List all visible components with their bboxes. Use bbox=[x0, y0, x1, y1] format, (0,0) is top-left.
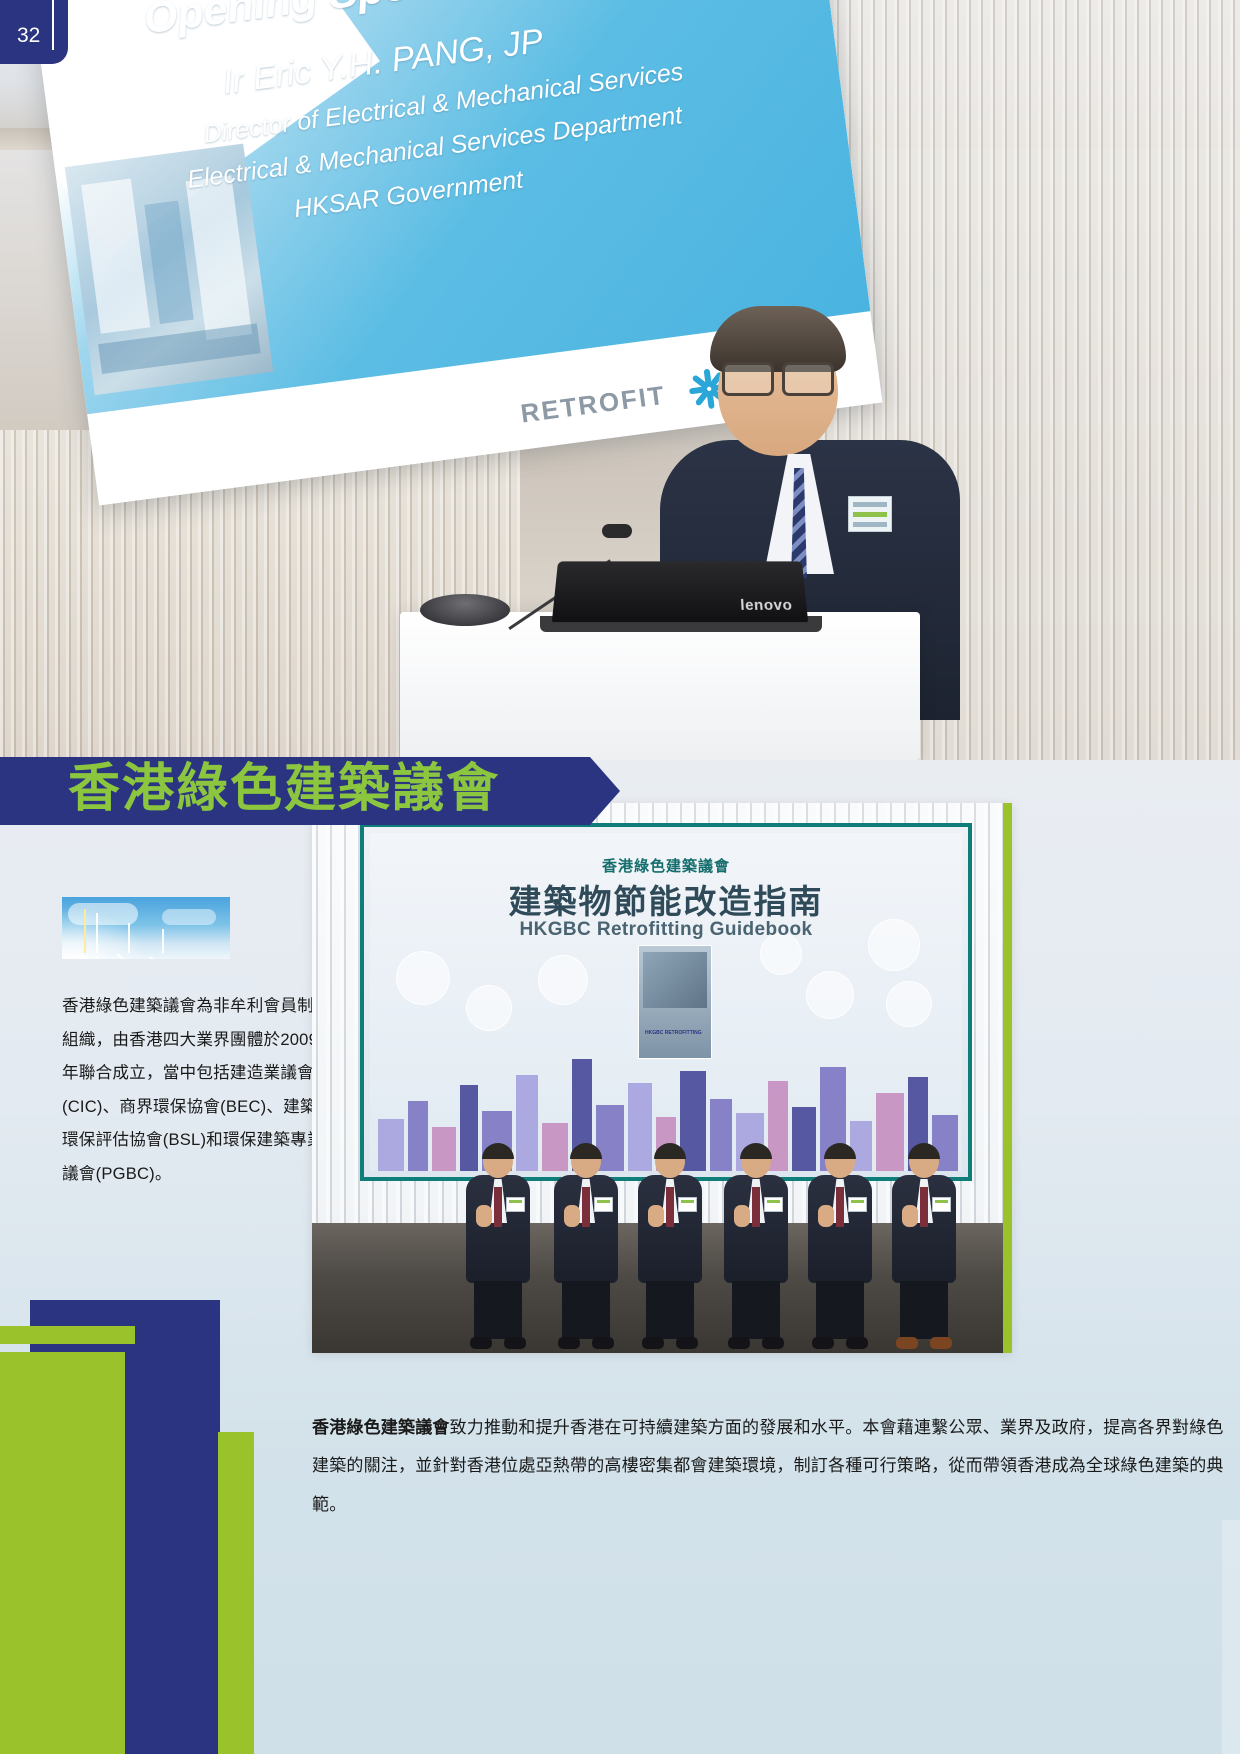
poster-org-name: 香港綠色建築議會 bbox=[370, 855, 962, 876]
decorative-bars bbox=[0, 1280, 270, 1754]
guidebook-poster: 香港綠色建築議會 建築物節能改造指南 HKGBC Retrofitting Gu… bbox=[360, 823, 972, 1181]
left-paragraph: 香港綠色建築議會為非牟利會員制組織，由香港四大業界團體於2009年聯合成立，當中… bbox=[62, 989, 324, 1190]
lectern bbox=[400, 612, 920, 760]
bottom-paragraph: 香港綠色建築議會致力推動和提升香港在可持續建築方面的發展和水平。本會藉連繫公眾、… bbox=[312, 1409, 1237, 1524]
poster-inner: 香港綠色建築議會 建築物節能改造指南 HKGBC Retrofitting Gu… bbox=[370, 833, 962, 1171]
poster-circle-icon bbox=[886, 981, 932, 1027]
poster-circle-icon bbox=[538, 955, 588, 1005]
conference-speakerphone bbox=[420, 594, 510, 626]
poster-circle-icon bbox=[396, 951, 450, 1005]
person bbox=[804, 1145, 876, 1353]
deco-green-block bbox=[0, 1352, 125, 1754]
person bbox=[634, 1145, 706, 1353]
person bbox=[888, 1145, 960, 1353]
group-photo: 香港綠色建築議會 建築物節能改造指南 HKGBC Retrofitting Gu… bbox=[312, 803, 1012, 1353]
page-tab-rule bbox=[52, 0, 54, 50]
page-number-tab: 32 bbox=[0, 0, 68, 64]
hero-photo: Opening Speech Ir Eric Y.H. PANG, JP Dir… bbox=[0, 0, 1240, 760]
page-number: 32 bbox=[17, 25, 40, 46]
poster-circle-icon bbox=[806, 971, 854, 1019]
poster-title-zh: 建築物節能改造指南 bbox=[370, 875, 962, 923]
poster-title-en: HKGBC Retrofitting Guidebook bbox=[370, 919, 962, 941]
person bbox=[550, 1145, 622, 1353]
bottom-paragraph-lead: 香港綠色建築議會 bbox=[312, 1418, 450, 1437]
deco-green-bar bbox=[0, 1326, 135, 1344]
people-row bbox=[312, 1129, 1012, 1353]
speaker-glasses-icon bbox=[722, 362, 834, 392]
wind-turbine-thumbnail bbox=[62, 897, 230, 959]
section-title-banner: 香港綠色建築議會 bbox=[0, 757, 620, 825]
laptop-brand-label: lenovo bbox=[740, 597, 793, 614]
person bbox=[720, 1145, 792, 1353]
person bbox=[462, 1145, 534, 1353]
speaker-name-badge bbox=[848, 496, 892, 532]
bottom-paragraph-body: 致力推動和提升香港在可持續建築方面的發展和水平。本會藉連繫公眾、業界及政府，提高… bbox=[312, 1418, 1224, 1514]
laptop: lenovo bbox=[552, 561, 808, 622]
left-column: 香港綠色建築議會為非牟利會員制組織，由香港四大業界團體於2009年聯合成立，當中… bbox=[62, 897, 324, 1207]
page-title: 香港綠色建築議會 bbox=[68, 763, 500, 815]
poster-circle-icon bbox=[466, 985, 512, 1031]
photo-green-edge bbox=[1003, 803, 1012, 1353]
right-edge-band bbox=[1222, 1520, 1240, 1754]
magazine-page: Opening Speech Ir Eric Y.H. PANG, JP Dir… bbox=[0, 0, 1240, 1754]
deco-green-strip bbox=[218, 1432, 254, 1754]
